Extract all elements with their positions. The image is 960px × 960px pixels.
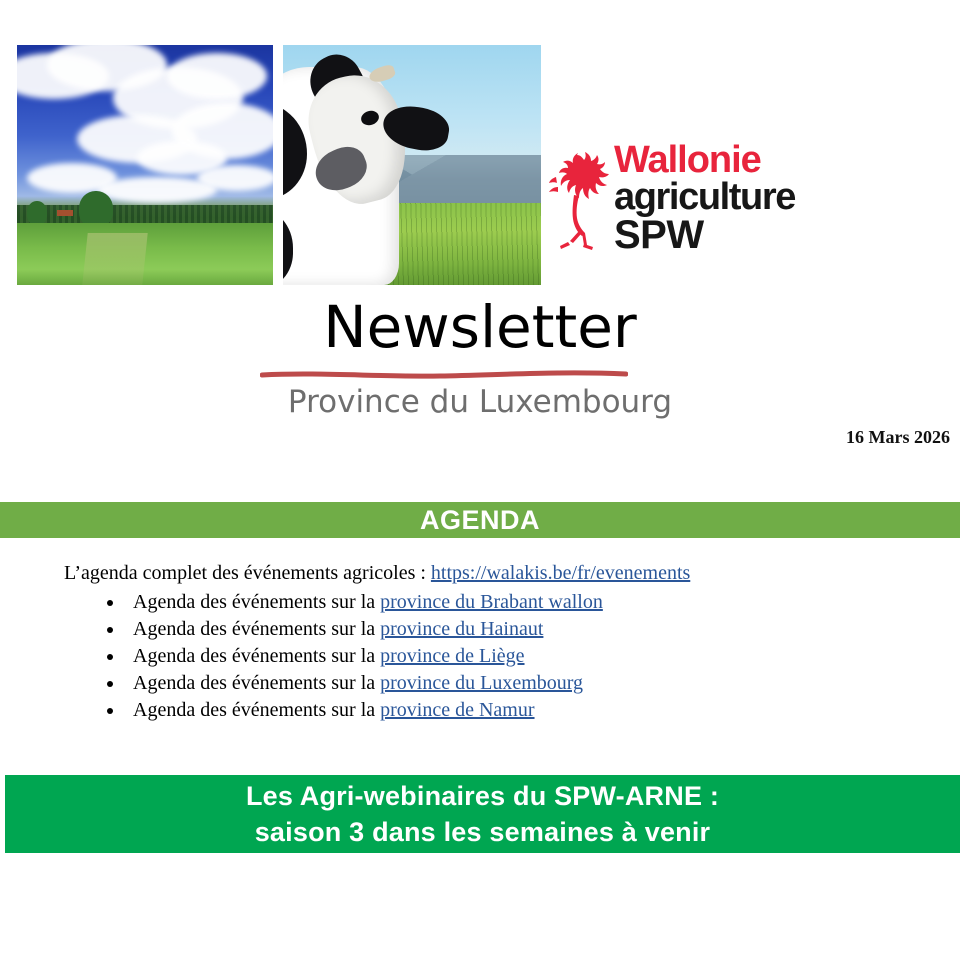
meadow-sky-photo bbox=[17, 45, 273, 285]
bullet-icon bbox=[107, 627, 113, 633]
cow-patch-shape bbox=[283, 207, 293, 285]
webinar-title-line-1: Les Agri-webinaires du SPW-ARNE : bbox=[246, 778, 719, 814]
province-link-luxembourg[interactable]: province du Luxembourg bbox=[380, 672, 583, 694]
tree-shape bbox=[27, 201, 47, 225]
province-agenda-list: Agenda des événements sur la province du… bbox=[0, 589, 960, 724]
bullet-icon bbox=[107, 708, 113, 714]
list-item: Agenda des événements sur la province de… bbox=[0, 697, 960, 724]
agenda-intro-line: L’agenda complet des événements agricole… bbox=[0, 562, 960, 585]
province-link-liege[interactable]: province de Liège bbox=[380, 645, 524, 667]
list-item-text: Agenda des événements sur la bbox=[133, 699, 380, 721]
tree-shape bbox=[79, 191, 113, 227]
province-link-namur[interactable]: province de Namur bbox=[380, 699, 534, 721]
province-link-hainaut[interactable]: province du Hainaut bbox=[380, 618, 543, 640]
webinar-section-banner: Les Agri-webinaires du SPW-ARNE : saison… bbox=[5, 775, 960, 853]
list-item-text: Agenda des événements sur la bbox=[133, 591, 380, 613]
issue-date: 16 Mars 2026 bbox=[846, 427, 950, 448]
list-item: Agenda des événements sur la province de… bbox=[0, 643, 960, 670]
bullet-icon bbox=[107, 600, 113, 606]
agenda-intro-text: L’agenda complet des événements agricole… bbox=[64, 562, 431, 584]
logo-line-wallonie: Wallonie bbox=[614, 143, 795, 178]
bullet-icon bbox=[107, 681, 113, 687]
agenda-full-link[interactable]: https://walakis.be/fr/evenements bbox=[431, 562, 690, 584]
title-underline-stroke bbox=[260, 366, 628, 382]
farmhouse-roof-shape bbox=[57, 210, 73, 216]
rooster-icon bbox=[548, 147, 610, 255]
page-subtitle: Province du Luxembourg bbox=[0, 384, 960, 420]
field-track-shape bbox=[82, 233, 147, 285]
cloud-shape bbox=[137, 141, 227, 175]
cow-patch-shape bbox=[283, 103, 307, 199]
list-item-text: Agenda des événements sur la bbox=[133, 645, 380, 667]
header-media-strip: Wallonie agriculture SPW bbox=[0, 45, 960, 290]
logo-wordmark: Wallonie agriculture SPW bbox=[614, 143, 795, 254]
agenda-section-banner: AGENDA bbox=[0, 502, 960, 538]
logo-line-agriculture: agriculture bbox=[614, 180, 795, 215]
list-item-text: Agenda des événements sur la bbox=[133, 672, 380, 694]
province-link-brabant-wallon[interactable]: province du Brabant wallon bbox=[380, 591, 603, 613]
list-item: Agenda des événements sur la province du… bbox=[0, 616, 960, 643]
list-item: Agenda des événements sur la province du… bbox=[0, 670, 960, 697]
cloud-shape bbox=[167, 53, 267, 99]
wallonie-agriculture-spw-logo: Wallonie agriculture SPW bbox=[548, 143, 808, 265]
list-item-text: Agenda des événements sur la bbox=[133, 618, 380, 640]
bullet-icon bbox=[107, 654, 113, 660]
webinar-title-line-2: saison 3 dans les semaines à venir bbox=[255, 814, 711, 850]
agenda-banner-label: AGENDA bbox=[420, 505, 540, 536]
cow-photo bbox=[283, 45, 541, 285]
page-title: Newsletter bbox=[0, 293, 960, 361]
logo-line-spw: SPW bbox=[614, 217, 795, 254]
list-item: Agenda des événements sur la province du… bbox=[0, 589, 960, 616]
agenda-content: L’agenda complet des événements agricole… bbox=[0, 562, 960, 724]
